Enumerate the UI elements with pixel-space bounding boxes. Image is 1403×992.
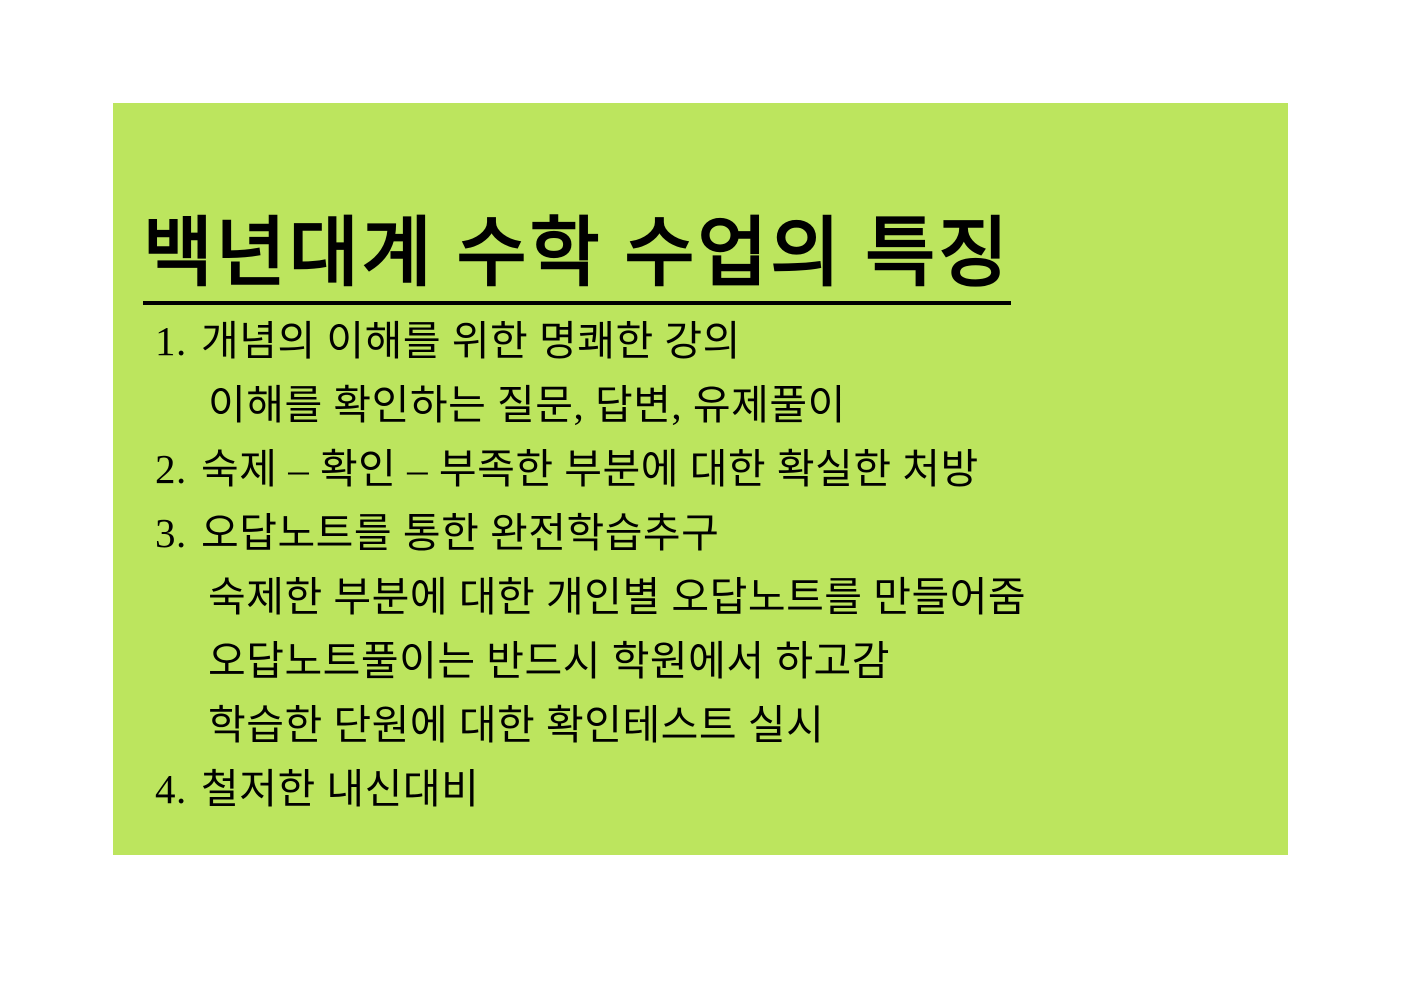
list-item: 3.오답노트를 통한 완전학습추구 [113,501,1288,565]
list-item-marker: 4. [155,757,201,821]
list-item-label: 학습한 단원에 대한 확인테스트 실시 [208,702,824,748]
list-item: 이해를 확인하는 질문, 답변, 유제풀이 [113,373,1288,437]
list-item: 4.철저한 내신대비 [113,757,1288,821]
list-item-label: 개념의 이해를 위한 명쾌한 강의 [201,318,741,364]
list-item-marker: 3. [155,501,201,565]
list-item-label: 숙제 – 확인 – 부족한 부분에 대한 확실한 처방 [201,446,979,492]
list-item-marker: 1. [155,309,201,373]
content-panel: 백년대계 수학 수업의 특징 1.개념의 이해를 위한 명쾌한 강의이해를 확인… [113,103,1288,855]
list-item-label: 오답노트를 통한 완전학습추구 [201,510,719,556]
list-item-label: 오답노트풀이는 반드시 학원에서 하고감 [208,638,890,684]
feature-list: 1.개념의 이해를 위한 명쾌한 강의이해를 확인하는 질문, 답변, 유제풀이… [113,309,1288,821]
list-item: 2.숙제 – 확인 – 부족한 부분에 대한 확실한 처방 [113,437,1288,501]
page-title: 백년대계 수학 수업의 특징 [143,216,1011,305]
list-item: 학습한 단원에 대한 확인테스트 실시 [113,693,1288,757]
slide-canvas: 백년대계 수학 수업의 특징 1.개념의 이해를 위한 명쾌한 강의이해를 확인… [0,0,1403,992]
list-item-label: 철저한 내신대비 [201,766,479,812]
list-item: 1.개념의 이해를 위한 명쾌한 강의 [113,309,1288,373]
list-item-label: 숙제한 부분에 대한 개인별 오답노트를 만들어줌 [208,574,1026,620]
list-item: 숙제한 부분에 대한 개인별 오답노트를 만들어줌 [113,565,1288,629]
list-item-marker: 2. [155,437,201,501]
list-item-label: 이해를 확인하는 질문, 답변, 유제풀이 [208,382,846,428]
list-item: 오답노트풀이는 반드시 학원에서 하고감 [113,629,1288,693]
